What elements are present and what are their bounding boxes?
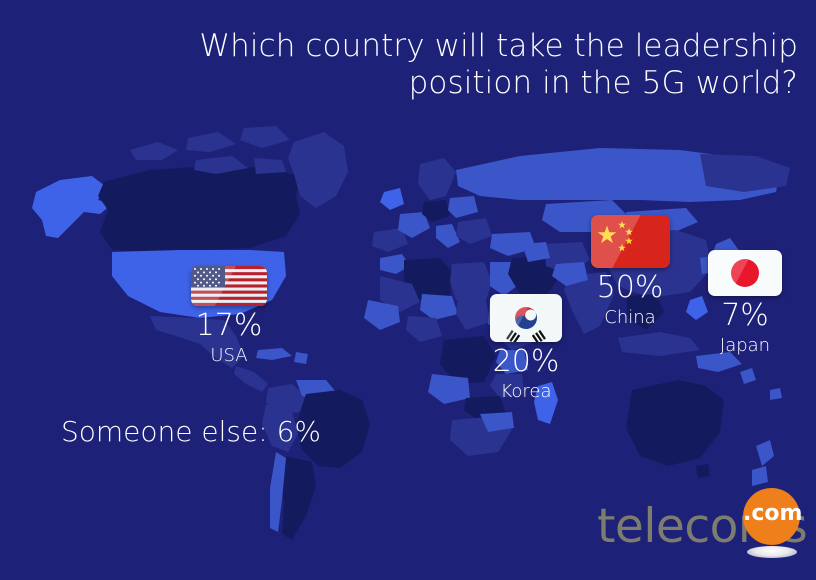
map-country-balkans [456, 218, 492, 244]
logo-shadow-ellipse [747, 546, 797, 558]
map-country-siberia-east [700, 154, 790, 192]
flag-korea-icon [490, 294, 562, 342]
map-pacific-islands [740, 368, 782, 400]
map-country-newzealand [752, 440, 774, 486]
map-country-scandinavia [418, 158, 456, 200]
marker-china-country: China [582, 309, 678, 327]
marker-korea-percent: 20% [478, 347, 574, 377]
telecoms-logo[interactable]: telecoms .com [597, 487, 802, 570]
someone-else-label: Someone else: 6% [61, 418, 321, 446]
map-country-uk [380, 188, 404, 210]
flag-china-icon [591, 215, 670, 268]
map-country-nigeria [406, 316, 442, 342]
map-central-america [234, 366, 268, 392]
map-country-niger [420, 294, 458, 320]
map-islands-arctic [130, 126, 290, 160]
map-country-indonesia [618, 332, 700, 356]
page-title: Which country will take the leadership p… [150, 28, 798, 102]
marker-japan-percent: 7% [698, 301, 792, 331]
map-country-canada [98, 166, 300, 252]
marker-china-percent: 50% [582, 273, 678, 303]
logo-dot-label: .com [743, 503, 800, 525]
map-country-alaska [32, 176, 112, 238]
infographic-canvas: Which country will take the leadership p… [0, 0, 816, 580]
marker-china[interactable]: 50% China [582, 215, 678, 327]
map-country-argentina [280, 456, 316, 540]
logo-dot-circle: .com [743, 488, 800, 545]
marker-japan[interactable]: 7% Japan [698, 250, 792, 355]
map-country-angola [428, 374, 470, 404]
marker-korea-country: Korea [478, 383, 574, 401]
flag-usa-icon [191, 266, 267, 306]
map-country-australia [626, 380, 724, 466]
marker-usa[interactable]: 17% USA [181, 266, 277, 365]
marker-japan-country: Japan [698, 337, 792, 355]
map-country-tasmania [696, 464, 710, 478]
marker-usa-country: USA [181, 347, 277, 365]
flag-japan-icon [708, 250, 782, 296]
map-country-greenland [288, 132, 348, 208]
marker-korea[interactable]: 20% Korea [478, 294, 574, 401]
marker-usa-percent: 17% [181, 311, 277, 341]
map-country-poland [448, 196, 478, 218]
map-continents [32, 126, 790, 540]
